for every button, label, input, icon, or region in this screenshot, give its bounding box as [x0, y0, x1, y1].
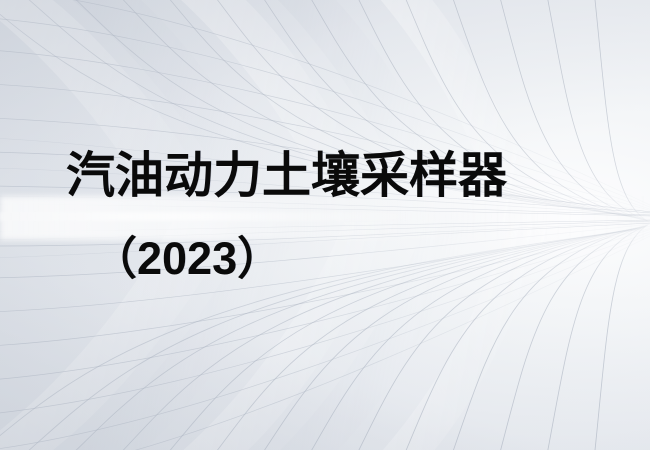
background-base-gradient: [0, 0, 650, 450]
slide-title-year: （2023）: [92, 236, 282, 281]
slide-title-main: 汽油动力土壤采样器: [66, 152, 507, 201]
background-light-streak-core: [0, 212, 650, 221]
title-slide: 汽油动力土壤采样器 （2023）: [0, 0, 650, 450]
background-shade-topleft: [0, 0, 650, 450]
background-mesh-vertical: [0, 0, 650, 450]
background-shade-bottomleft: [0, 0, 650, 450]
background-vignette: [0, 0, 650, 450]
mesh-lines-horizontal: [0, 0, 650, 450]
